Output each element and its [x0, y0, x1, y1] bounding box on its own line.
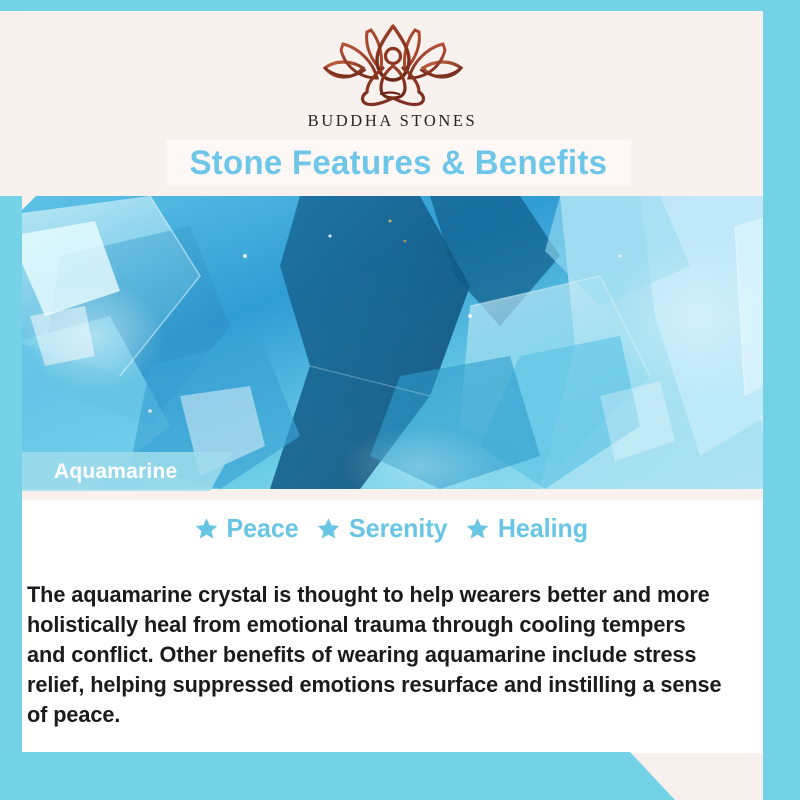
top-accent-stripe [0, 0, 800, 11]
feature-keywords-row: Peace Serenity Healing [22, 513, 763, 544]
feature-item: Peace [195, 513, 300, 544]
left-accent-stripe [0, 196, 22, 800]
bottom-accent-bar [0, 752, 675, 800]
feature-label: Healing [498, 513, 588, 544]
star-icon [466, 517, 489, 540]
stone-name-label: Aquamarine [54, 460, 177, 484]
feature-item: Healing [466, 513, 590, 544]
feature-item: Serenity [317, 513, 450, 544]
stone-description-text: The aquamarine crystal is thought to hel… [27, 580, 726, 730]
stone-benefits-poster: Aquamarine [0, 0, 800, 800]
right-accent-stripe [763, 0, 800, 800]
crystal-photo-illustration [0, 196, 800, 489]
brand-wordmark: BUDDHA STONES [308, 111, 478, 131]
stone-name-banner: Aquamarine [22, 452, 232, 491]
star-icon [195, 517, 218, 540]
page-title: Stone Features & Benefits [190, 144, 608, 183]
feature-label: Serenity [349, 513, 448, 544]
title-banner: Stone Features & Benefits [166, 140, 631, 186]
hero-image-aquamarine-crystal [0, 196, 800, 489]
star-icon [317, 517, 340, 540]
feature-label: Peace [226, 513, 298, 544]
lotus-meditation-icon [317, 22, 469, 108]
